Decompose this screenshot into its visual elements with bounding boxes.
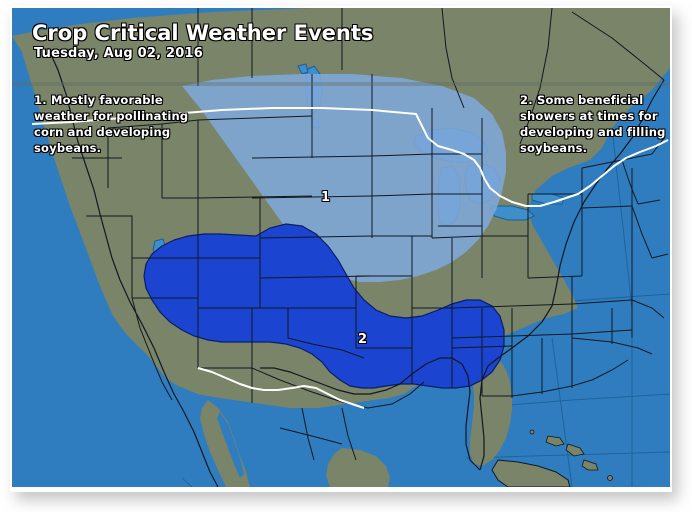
annotation-note-2: 2. Some beneficial showers at times for … xyxy=(520,92,670,156)
map-date-label: Tuesday, Aug 02, 2016 xyxy=(34,46,203,61)
region-label-2: 2 xyxy=(358,332,367,347)
map-canvas: Crop Critical Weather Events Tuesday, Au… xyxy=(12,8,670,487)
weather-map-page: Crop Critical Weather Events Tuesday, Au… xyxy=(0,0,692,512)
annotation-note-1: 1. Mostly favorable weather for pollinat… xyxy=(34,92,199,156)
page-title: Crop Critical Weather Events xyxy=(32,21,373,45)
north-america-map xyxy=(12,8,670,487)
region-label-1: 1 xyxy=(321,190,330,205)
latitude-band xyxy=(12,82,670,86)
